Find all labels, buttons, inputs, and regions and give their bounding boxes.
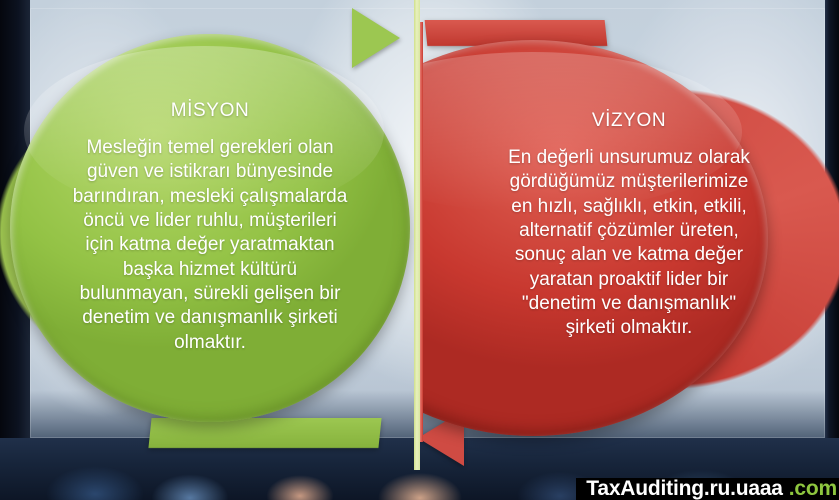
watermark-suffix: .com — [789, 478, 837, 500]
vision-line: şirketi olmaktır. — [440, 316, 818, 340]
mission-panel: MİSYON Mesleğin temel gerekleri olan güv… — [0, 0, 418, 470]
vision-line: en hızlı, sağlıklı, etkin, etkili, — [440, 195, 818, 219]
watermark-bar: TaxAuditing.ru.uaaa .com — [576, 478, 839, 500]
panel-divider — [414, 0, 420, 470]
mission-line: öncü ve lider ruhlu, müşterileri — [24, 209, 396, 233]
watermark-text: TaxAuditing.ru.uaaa — [586, 478, 783, 500]
vision-panel: VİZYON En değerli unsurumuz olarak gördü… — [418, 0, 839, 470]
mission-line: denetim ve danışmanlık şirketi — [24, 306, 396, 330]
mission-line: güven ve istikrarı bünyesinde — [24, 160, 396, 184]
mission-title: MİSYON — [24, 100, 396, 122]
vision-text: En değerli unsurumuz olarak gördüğümüz m… — [440, 146, 818, 341]
vision-content: VİZYON En değerli unsurumuz olarak gördü… — [440, 110, 818, 341]
mission-text: Mesleğin temel gerekleri olan güven ve i… — [24, 136, 396, 355]
vision-line: "denetim ve danışmanlık" — [440, 292, 818, 316]
vision-line: sonuç alan ve katma değer — [440, 243, 818, 267]
vision-line: En değerli unsurumuz olarak — [440, 146, 818, 170]
vision-line: alternatif çözümler üreten, — [440, 219, 818, 243]
vision-title: VİZYON — [440, 110, 818, 132]
mission-line: bulunmayan, sürekli gelişen bir — [24, 282, 396, 306]
vision-line: gördüğümüz müşterilerimize — [440, 170, 818, 194]
mission-line: olmaktır. — [24, 331, 396, 355]
green-arrow-tail — [148, 418, 381, 448]
mission-line: için katma değer yaratmaktan — [24, 233, 396, 257]
green-arrow-head-icon — [352, 8, 400, 68]
mission-line: başka hizmet kültürü — [24, 258, 396, 282]
mission-content: MİSYON Mesleğin temel gerekleri olan güv… — [24, 100, 396, 355]
mission-line: barındıran, mesleki çalışmalarda — [24, 185, 396, 209]
mission-line: Mesleğin temel gerekleri olan — [24, 136, 396, 160]
presentation-slide: MİSYON Mesleğin temel gerekleri olan güv… — [0, 0, 839, 500]
vision-line: yaratan proaktif lider bir — [440, 268, 818, 292]
